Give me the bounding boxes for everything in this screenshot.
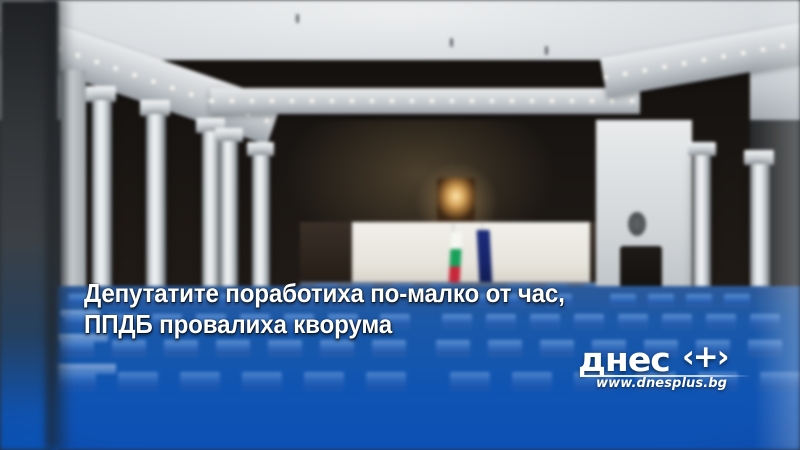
downlight-strip	[210, 99, 640, 103]
site-logo[interactable]: днес ‹+› www.dnesplus.bg	[578, 340, 778, 398]
headline-text: Депутатите поработиха по-малко от час, П…	[84, 278, 623, 340]
coat-of-arms-emblem	[437, 178, 475, 222]
flag-european-union	[478, 230, 491, 284]
column-capital	[688, 142, 716, 156]
news-image-card: Депутатите поработиха по-малко от час, П…	[0, 0, 800, 450]
rostrum-screen	[352, 222, 590, 284]
ceiling-fixture-icon	[450, 38, 453, 47]
wall-medallion	[628, 212, 646, 236]
ceiling-fixture-icon	[545, 46, 548, 55]
logo-url: www.dnesplus.bg	[596, 376, 727, 391]
left-edge-feather	[46, 0, 72, 450]
column-left-1	[92, 100, 112, 300]
flag-bulgaria	[450, 232, 461, 284]
logo-plus-mark-icon: ‹+›	[682, 339, 728, 375]
logo-wordmark: днес	[578, 340, 670, 379]
column-capital	[247, 142, 274, 156]
column-left-2	[146, 114, 166, 304]
ceiling-fixture-icon	[296, 14, 299, 23]
rostrum-panel-left	[300, 222, 354, 284]
cornice-center	[210, 88, 640, 114]
column-capital	[215, 128, 243, 142]
